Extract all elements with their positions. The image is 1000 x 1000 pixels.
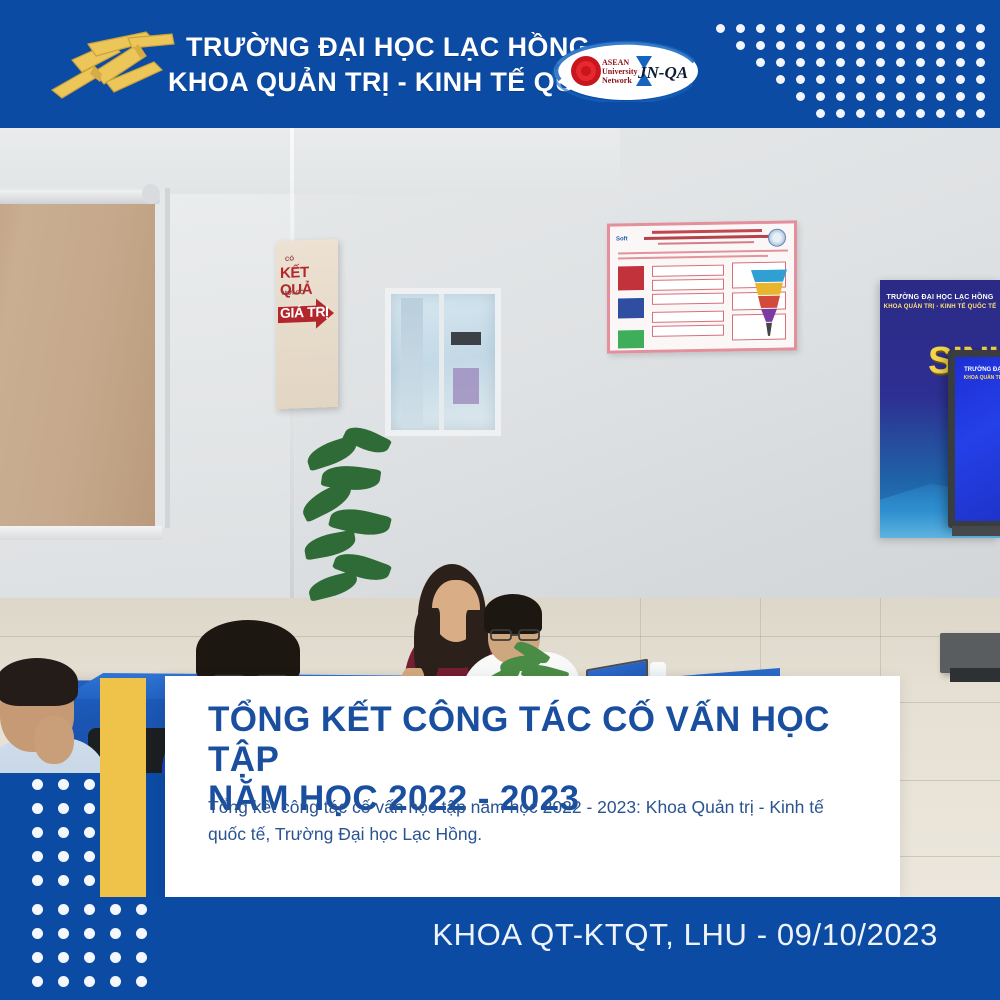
dot [976, 75, 985, 84]
dot [896, 92, 905, 101]
poster-big-line-2: GIÁ TRỊ [280, 303, 329, 321]
blind-knob [142, 184, 160, 204]
dot [84, 827, 95, 838]
dot [856, 41, 865, 50]
dot [856, 24, 865, 33]
dot [936, 24, 945, 33]
dot [110, 976, 121, 987]
dot [84, 904, 95, 915]
dot [756, 58, 765, 67]
dot [816, 24, 825, 33]
dot [916, 109, 925, 118]
interior-window [385, 288, 501, 436]
potted-plant-floor [300, 424, 430, 624]
poster-small-line-1: CÓ [285, 256, 294, 262]
wall-display-black [451, 332, 481, 345]
dot [32, 928, 43, 939]
funnel-diagram-icon [750, 267, 788, 338]
dot [816, 41, 825, 50]
header-line-university: TRƯỜNG ĐẠI HỌC LẠC HỒNG [168, 34, 558, 62]
dot [956, 92, 965, 101]
dot [110, 904, 121, 915]
dot [976, 58, 985, 67]
dot [936, 41, 945, 50]
dot [110, 928, 121, 939]
dot [32, 851, 43, 862]
dot [796, 92, 805, 101]
dot [876, 24, 885, 33]
dot [856, 92, 865, 101]
header-line-faculty: KHOA QUẢN TRỊ - KINH TẾ QUỐC TẾ [168, 69, 558, 97]
dot [136, 904, 147, 915]
poster-box [652, 265, 724, 277]
dot [856, 58, 865, 67]
dot [956, 75, 965, 84]
poster-heading-rule-2 [644, 235, 770, 240]
dot [836, 24, 845, 33]
dot [136, 976, 147, 987]
yellow-accent-bar [100, 678, 146, 898]
poster-block-red [618, 266, 644, 290]
dot [976, 41, 985, 50]
training-program-poster: Soft [607, 220, 797, 353]
dot [776, 58, 785, 67]
dot [736, 41, 745, 50]
dot [796, 75, 805, 84]
dot [58, 875, 69, 886]
dot [776, 41, 785, 50]
wall-monitor: TRƯỜNG ĐẠI HỌC LẠC HỒNG KHOA QUẢN TRỊ - … [948, 350, 1000, 528]
dot [916, 24, 925, 33]
dot [916, 92, 925, 101]
dot [816, 109, 825, 118]
floor-equipment [940, 633, 1000, 673]
poster-box [652, 325, 724, 337]
header-bar: TRƯỜNG ĐẠI HỌC LẠC HỒNG KHOA QUẢN TRỊ - … [0, 0, 1000, 128]
svg-text:JN-QA: JN-QA [637, 63, 688, 82]
social-post-graphic: TRƯỜNG ĐẠI HỌC LẠC HỒNG KHOA QUẢN TRỊ - … [0, 0, 1000, 1000]
dot [84, 803, 95, 814]
dot [32, 904, 43, 915]
dot [856, 109, 865, 118]
dot [976, 24, 985, 33]
dot [736, 24, 745, 33]
dot [32, 952, 43, 963]
dot [32, 976, 43, 987]
dot [32, 875, 43, 886]
dot [976, 109, 985, 118]
dot [896, 109, 905, 118]
dot [956, 24, 965, 33]
poster-box [652, 311, 724, 323]
poster-heading-rule-3 [658, 241, 754, 245]
dot [936, 58, 945, 67]
dot [756, 41, 765, 50]
dot [876, 58, 885, 67]
monitor-line-1: TRƯỜNG ĐẠI HỌC LẠC HỒNG [955, 367, 1000, 373]
room-ceiling [0, 128, 620, 194]
dot [58, 803, 69, 814]
dot [84, 952, 95, 963]
dot [816, 75, 825, 84]
dot [896, 41, 905, 50]
roller-blind [0, 200, 155, 532]
window-column [401, 298, 423, 428]
header-title-group: TRƯỜNG ĐẠI HỌC LẠC HỒNG KHOA QUẢN TRỊ - … [168, 34, 558, 96]
dot [876, 109, 885, 118]
svg-text:Network: Network [602, 76, 632, 85]
dot [876, 41, 885, 50]
dot [836, 75, 845, 84]
dot [58, 952, 69, 963]
dot [956, 109, 965, 118]
dot [956, 41, 965, 50]
dot [58, 779, 69, 790]
dot [936, 109, 945, 118]
dot [896, 58, 905, 67]
floor-equipment-base [950, 668, 1000, 682]
dot [916, 75, 925, 84]
poster-box [652, 279, 724, 291]
dot [956, 58, 965, 67]
svg-text:University: University [602, 67, 638, 76]
poster-text-rule [618, 255, 768, 260]
dot [32, 827, 43, 838]
dot [816, 58, 825, 67]
corridor-notice [453, 368, 479, 404]
dot [836, 58, 845, 67]
poster-seal-icon [768, 229, 786, 247]
dot [816, 92, 825, 101]
eyeglasses-icon [490, 628, 540, 640]
dot [796, 58, 805, 67]
dot [876, 75, 885, 84]
dot-pattern-footer [10, 900, 160, 1000]
dot [716, 24, 725, 33]
monitor-stand [952, 526, 1000, 536]
dot [84, 851, 95, 862]
dot [58, 928, 69, 939]
dot [32, 779, 43, 790]
dot [136, 952, 147, 963]
lhu-arrow-bird-logo [42, 26, 182, 104]
dot [796, 24, 805, 33]
dot [58, 851, 69, 862]
dot [976, 92, 985, 101]
dot [876, 92, 885, 101]
standee-line-2: KHOA QUẢN TRỊ - KINH TẾ QUỐC TẾ [880, 304, 1000, 310]
poster-box [652, 293, 724, 305]
halftone-dot-pattern-icon [716, 24, 1000, 128]
window-mullion [439, 294, 444, 430]
dot [84, 976, 95, 987]
poster-text-rule [618, 249, 788, 254]
dot [936, 75, 945, 84]
dot [136, 928, 147, 939]
dot [776, 75, 785, 84]
motivational-poster: CÓ KẾT QUẢ MỚI CÓ GIÁ TRỊ [276, 239, 338, 409]
dot [58, 904, 69, 915]
poster-small-line-2: MỚI CÓ [282, 290, 304, 297]
dot [836, 92, 845, 101]
window-sill [0, 526, 162, 540]
poster-block-blue [618, 298, 644, 318]
dot [32, 803, 43, 814]
dot [796, 41, 805, 50]
page-title-line: TỔNG KẾT CÔNG TÁC CỐ VẤN HỌC TẬP [208, 700, 868, 779]
dot [916, 41, 925, 50]
dot [110, 952, 121, 963]
dot [776, 24, 785, 33]
dot [58, 976, 69, 987]
poster-block-green [618, 330, 644, 348]
standee-line-1: TRƯỜNG ĐẠI HỌC LẠC HỒNG [880, 294, 1000, 301]
dot [84, 928, 95, 939]
dot [58, 827, 69, 838]
title-card: TỔNG KẾT CÔNG TÁC CỐ VẤN HỌC TẬPNĂM HỌC … [165, 676, 900, 897]
aun-qa-seal-icon: ASEAN University Network JN-QA [552, 40, 700, 102]
poster-heading-rule-1 [652, 229, 762, 234]
poster-brand-label: Soft [616, 236, 628, 242]
dot [836, 109, 845, 118]
dot [896, 24, 905, 33]
monitor-line-2: KHOA QUẢN TRỊ - KINH TẾ QUỐC TẾ [955, 375, 1000, 381]
monitor-screen: TRƯỜNG ĐẠI HỌC LẠC HỒNG KHOA QUẢN TRỊ - … [955, 357, 1000, 521]
dot [84, 875, 95, 886]
dot [856, 75, 865, 84]
dot [756, 24, 765, 33]
dot [936, 92, 945, 101]
dot [916, 58, 925, 67]
page-description: Tổng kết công tác cố vấn học tập năm học… [208, 794, 828, 848]
dot [836, 41, 845, 50]
dot [84, 779, 95, 790]
dot [896, 75, 905, 84]
svg-text:ASEAN: ASEAN [602, 58, 629, 67]
blind-rail [0, 190, 160, 204]
